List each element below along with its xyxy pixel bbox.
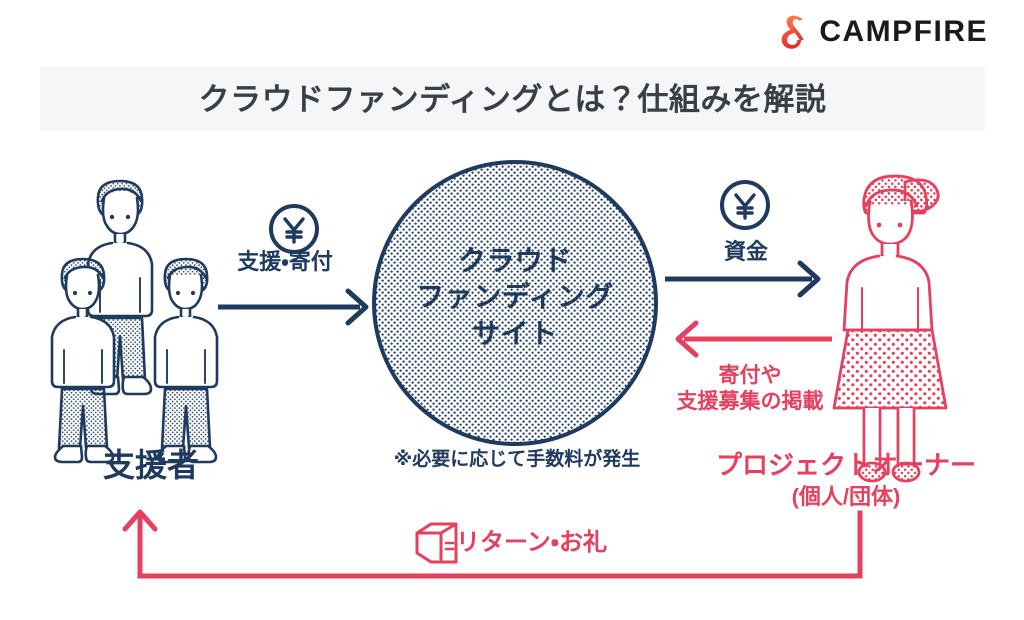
- actor-label-project-owner: プロジェクトオーナー (個人/団体): [676, 450, 1016, 511]
- woman-person-icon: [834, 176, 946, 481]
- flow-label-support-donate: 支援・寄付: [197, 249, 373, 276]
- flow-label-return-reward: リターン・お礼: [456, 528, 607, 557]
- hub-label-line3: サイト: [400, 316, 630, 352]
- flow-label-funds: 資金: [672, 239, 820, 266]
- infographic-canvas: CAMPFIRE クラウドファンディングとは？仕組みを解説: [0, 0, 1024, 620]
- flow-label-listing-line1: 寄付や: [719, 364, 782, 387]
- person-icon-right: [155, 259, 217, 462]
- yen-coin-icon-left: [271, 206, 317, 252]
- actor-label-project-owner-sub: (個人/団体): [676, 484, 1016, 511]
- flow-label-listing-line2: 支援募集の掲載: [677, 390, 824, 413]
- yen-coin-icon-right: [722, 182, 768, 228]
- hub-label: クラウド ファンディング サイト: [400, 243, 630, 352]
- flow-label-listing: 寄付や 支援募集の掲載: [638, 363, 862, 414]
- actor-label-supporters: 支援者: [48, 446, 254, 485]
- fee-note: ※必要に応じて手数料が発生: [352, 448, 682, 471]
- hub-label-line1: クラウド: [400, 243, 630, 279]
- package-box-icon: [417, 524, 456, 562]
- actor-label-project-owner-main: プロジェクトオーナー: [716, 450, 976, 480]
- hub-label-line2: ファンディング: [400, 279, 630, 315]
- arrow-listing: [678, 323, 832, 355]
- arrow-support-donate: [218, 291, 366, 323]
- arrow-funds: [665, 263, 818, 295]
- three-people-icon: [52, 181, 217, 462]
